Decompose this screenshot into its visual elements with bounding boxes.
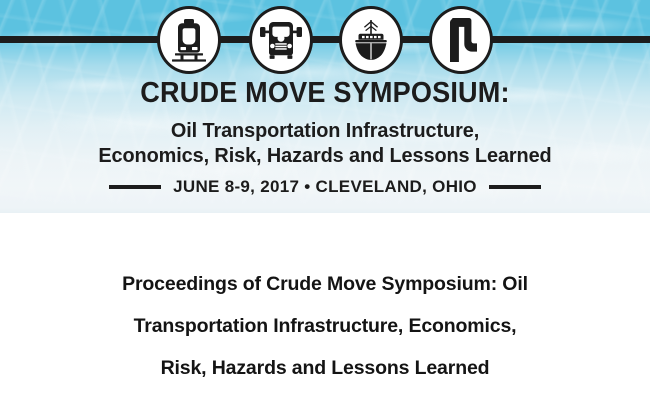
truck-icon-badge — [249, 6, 313, 74]
meta-rule-right — [489, 185, 541, 189]
transport-icon-chain — [0, 0, 650, 80]
chain-connector-line — [0, 36, 650, 43]
pipeline-icon — [444, 17, 478, 63]
proceedings-cover-page: CRUDE MOVE SYMPOSIUM: Oil Transportation… — [0, 0, 650, 415]
proceedings-title: Proceedings of Crude Move Symposium: Oil… — [70, 263, 580, 389]
event-title: CRUDE MOVE SYMPOSIUM: — [16, 79, 634, 108]
document-body: Proceedings of Crude Move Symposium: Oil… — [0, 213, 650, 415]
train-icon-badge — [157, 6, 221, 74]
pipeline-icon-badge — [429, 6, 493, 74]
event-date-location: JUNE 8-9, 2017 • CLEVELAND, OHIO — [173, 178, 477, 195]
ship-icon — [349, 19, 393, 61]
event-banner: CRUDE MOVE SYMPOSIUM: Oil Transportation… — [0, 0, 650, 213]
train-icon — [169, 18, 209, 62]
meta-rule-left — [109, 185, 161, 189]
ship-icon-badge — [339, 6, 403, 74]
proceedings-title-line-2: Transportation Infrastructure, Economics… — [70, 305, 580, 347]
event-subtitle-line-1: Oil Transportation Infrastructure, — [10, 118, 641, 143]
event-meta-row: JUNE 8-9, 2017 • CLEVELAND, OHIO — [0, 178, 650, 195]
truck-icon — [259, 20, 303, 60]
proceedings-title-line-3: Risk, Hazards and Lessons Learned — [70, 347, 580, 389]
proceedings-title-line-1: Proceedings of Crude Move Symposium: Oil — [70, 263, 580, 305]
event-subtitle-line-2: Economics, Risk, Hazards and Lessons Lea… — [10, 143, 641, 168]
event-subtitle: Oil Transportation Infrastructure, Econo… — [10, 118, 641, 168]
